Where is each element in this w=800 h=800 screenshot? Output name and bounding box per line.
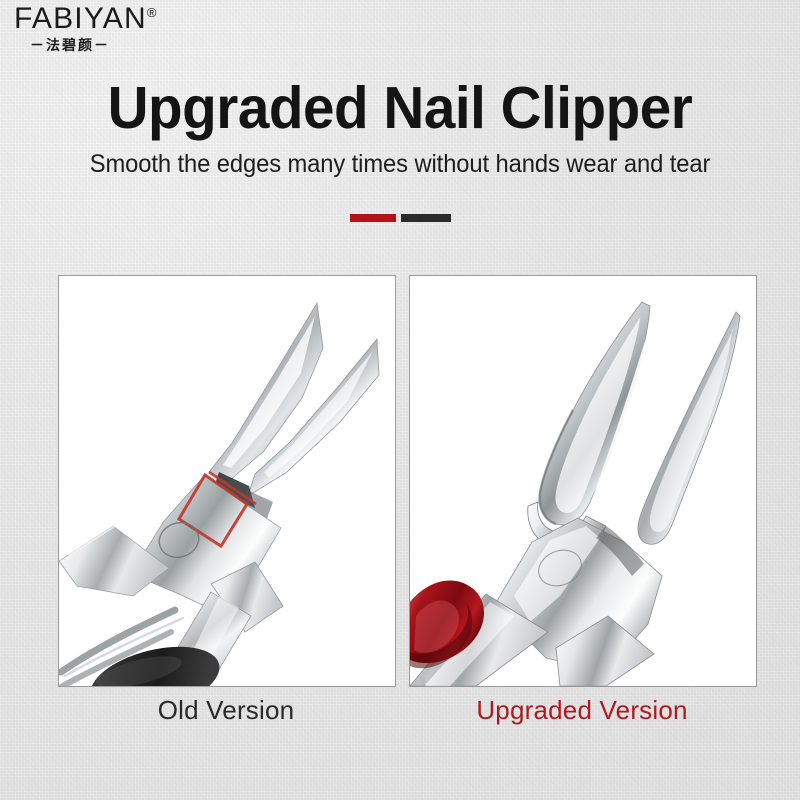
comparison-panel-upgraded xyxy=(409,275,757,687)
product-marketing-image: FABIYAN® －法碧颜－ Upgraded Nail Clipper Smo… xyxy=(0,0,800,800)
brand-name: FABIYAN® xyxy=(14,4,156,34)
brand-name-chinese: －法碧颜－ xyxy=(30,39,156,53)
divider-bar-dark xyxy=(401,214,451,222)
brand-name-text: FABIYAN xyxy=(14,2,147,35)
caption-old-version: Old Version xyxy=(58,695,394,726)
upgraded-clipper-right-jaw-highlight xyxy=(650,328,734,532)
divider-bar-red xyxy=(350,214,396,222)
page-title: Upgraded Nail Clipper xyxy=(16,78,784,138)
page-subtitle: Smooth the edges many times without hand… xyxy=(20,150,780,179)
product-photo-upgraded xyxy=(410,276,756,686)
nail-clipper-upgraded-illustration xyxy=(410,276,756,686)
divider xyxy=(0,214,800,222)
comparison-panel-old xyxy=(58,275,396,687)
nail-clipper-old-illustration xyxy=(59,276,395,686)
registered-trademark-icon: ® xyxy=(147,5,157,20)
brand-logo: FABIYAN® －法碧颜－ xyxy=(14,4,156,53)
product-photo-old xyxy=(59,276,395,686)
caption-upgraded-version: Upgraded Version xyxy=(409,695,755,726)
headline-block: Upgraded Nail Clipper Smooth the edges m… xyxy=(0,78,800,179)
